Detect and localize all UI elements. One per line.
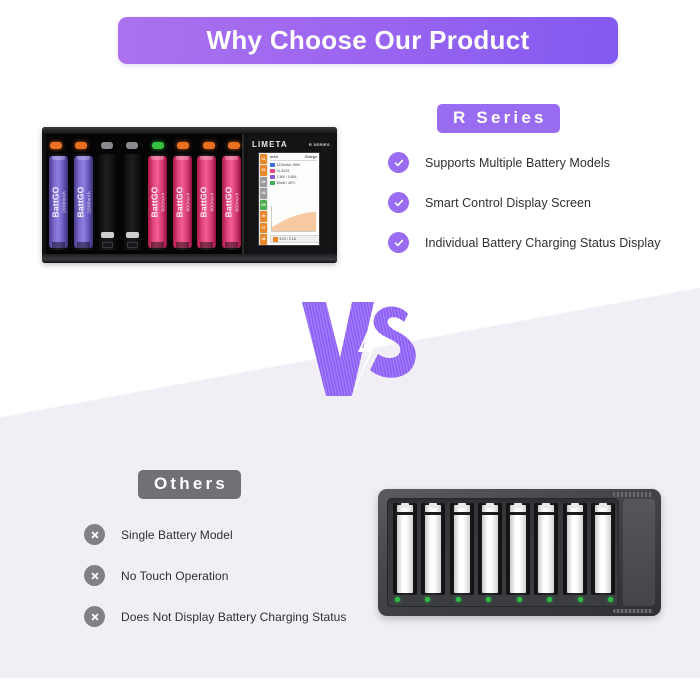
- stat-swatch-icon: [270, 169, 275, 174]
- battery-label: BattGO2000mAh: [75, 187, 91, 218]
- battery-capacity: 800mAh: [210, 187, 215, 218]
- battery-cell: BattGO2000mAh: [49, 156, 68, 248]
- battery-terminal: [151, 156, 164, 160]
- status-led: [547, 597, 552, 602]
- channel-button[interactable]: 07: [260, 223, 267, 234]
- slot-contact: [126, 232, 139, 238]
- cons-item-label: Does Not Display Battery Charging Status: [121, 610, 346, 624]
- battery-terminal: [225, 156, 238, 160]
- screen-stat-row: 1.36V / 0.80A: [270, 175, 317, 180]
- competitor-battery-slot: [393, 503, 417, 595]
- battery-capacity: 800mAh: [185, 187, 190, 218]
- battery-capacity: 2000mAh: [62, 187, 67, 218]
- battery-terminal: [176, 156, 189, 160]
- battery-terminal: [514, 503, 522, 508]
- pros-list-item: Individual Battery Charging Status Displ…: [388, 232, 688, 253]
- battery-cell-plain: [397, 505, 413, 593]
- battery-slot: BattGO2000mAh: [48, 154, 69, 250]
- charger-slot-row: BattGO2000mAh BattGO2000mAh: [48, 154, 242, 250]
- status-led: [486, 597, 491, 602]
- battery-cell: BattGO800mAh: [222, 156, 241, 248]
- cons-list-item: Does Not Display Battery Charging Status: [84, 606, 414, 627]
- pros-item-label: Individual Battery Charging Status Displ…: [425, 236, 661, 250]
- stat-value: 1215mAh / 96%: [277, 163, 300, 167]
- slot-contact: [101, 232, 114, 238]
- charger-side-indicators: [336, 134, 337, 254]
- cross-circle-icon: [84, 606, 105, 627]
- series-mark: R SERIES: [309, 142, 330, 147]
- battery-slot: BattGO800mAh: [196, 154, 217, 250]
- cons-list-item: Single Battery Model: [84, 524, 414, 545]
- battery-terminal: [401, 503, 409, 508]
- lcd-display-screen[interactable]: 01 02 03 04 OK 06 07 08 mAh Charge: [258, 152, 320, 246]
- battery-neck: [454, 512, 470, 515]
- check-circle-icon: [388, 152, 409, 173]
- battery-slot: BattGO800mAh: [221, 154, 242, 250]
- battery-neck: [482, 512, 498, 515]
- status-led: [203, 142, 215, 149]
- status-led: [456, 597, 461, 602]
- screen-col-mah: mAh: [270, 155, 278, 159]
- brand-logo-limeta: LIMETA: [252, 140, 288, 149]
- channel-button[interactable]: 04: [260, 188, 267, 199]
- cons-item-label: No Touch Operation: [121, 569, 228, 583]
- battery-label: BattGO800mAh: [223, 187, 239, 218]
- stat-value: 01:34:23: [277, 169, 290, 173]
- slot-contact-base: [127, 242, 138, 248]
- competitor-bay-area: [387, 498, 619, 607]
- status-led: [101, 142, 113, 149]
- power-swatch-icon: [273, 237, 278, 242]
- battery-slot-empty: [97, 154, 118, 250]
- status-led: [50, 142, 62, 149]
- charging-curve-chart: [271, 206, 316, 232]
- competitor-battery-slot: [421, 503, 445, 595]
- battery-base: [151, 242, 164, 248]
- battery-terminal: [599, 503, 607, 508]
- battery-label: BattGO800mAh: [149, 187, 165, 218]
- pros-item-label: Smart Control Display Screen: [425, 196, 591, 210]
- battery-terminal: [458, 503, 466, 508]
- battery-slot: BattGO2000mAh: [73, 154, 94, 250]
- charger-bottom-edge: [42, 254, 337, 263]
- versus-graphic: [296, 296, 426, 406]
- battery-cell-plain: [454, 505, 470, 593]
- stat-swatch-icon: [270, 163, 275, 168]
- battery-cell: BattGO2000mAh: [74, 156, 93, 248]
- channel-button[interactable]: 06: [260, 211, 267, 222]
- screen-stat-row: 50mΩ / 45°C: [270, 181, 317, 186]
- competitor-battery-slot: [534, 503, 558, 595]
- channel-button[interactable]: 08: [260, 234, 267, 245]
- charger-led-row: [50, 140, 240, 151]
- cons-item-label: Single Battery Model: [121, 528, 233, 542]
- battery-cell: BattGO800mAh: [197, 156, 216, 248]
- battery-terminal: [429, 503, 437, 508]
- power-value: 5.0V / 2.1A: [280, 237, 296, 241]
- competitor-slot-row: [393, 503, 615, 595]
- competitor-charger-image: [378, 489, 661, 616]
- charger-bay-area: BattGO2000mAh BattGO2000mAh: [46, 134, 244, 254]
- battery-terminal: [486, 503, 494, 508]
- r-series-badge: R Series: [437, 104, 560, 133]
- competitor-battery-slot: [478, 503, 502, 595]
- battery-base: [52, 242, 65, 248]
- status-led: [578, 597, 583, 602]
- battery-base: [77, 242, 90, 248]
- competitor-battery-slot: [591, 503, 615, 595]
- channel-button[interactable]: 02: [260, 165, 267, 176]
- screen-stat-row: 01:34:23: [270, 169, 317, 174]
- charger-control-panel: LIMETA R SERIES 01 02 03 04 OK 06 07 08 …: [248, 134, 333, 254]
- screen-stat-row: 1215mAh / 96%: [270, 163, 317, 168]
- battery-cell-plain: [425, 505, 441, 593]
- r-series-charger-image: BattGO2000mAh BattGO2000mAh: [42, 127, 337, 263]
- charger-vent-bottom: [613, 609, 653, 613]
- background-bottom-band: [0, 678, 700, 700]
- battery-cell-plain: [510, 505, 526, 593]
- battery-base: [200, 242, 213, 248]
- channel-button-ok[interactable]: OK: [260, 200, 267, 211]
- battery-terminal: [200, 156, 213, 160]
- stat-swatch-icon: [270, 181, 275, 186]
- screen-col-charge: Charge: [305, 155, 317, 159]
- competitor-battery-slot: [506, 503, 530, 595]
- check-circle-icon: [388, 232, 409, 253]
- pros-feature-list: Supports Multiple Battery Models Smart C…: [388, 152, 688, 272]
- status-led: [177, 142, 189, 149]
- page-title: Why Choose Our Product: [207, 25, 530, 56]
- channel-button[interactable]: 03: [260, 177, 267, 188]
- status-led: [395, 597, 400, 602]
- screen-column-headers: mAh Charge: [270, 155, 317, 161]
- battery-terminal: [52, 156, 65, 160]
- battery-base: [176, 242, 189, 248]
- battery-cell-plain: [567, 505, 583, 593]
- battery-neck: [595, 512, 611, 515]
- stat-swatch-icon: [270, 175, 275, 180]
- screen-content: mAh Charge 1215mAh / 96% 01:34:23 1.36V …: [268, 153, 319, 245]
- battery-cell-plain: [538, 505, 554, 593]
- infographic-page: Why Choose Our Product BattGO: [0, 0, 700, 700]
- battery-cell: BattGO800mAh: [173, 156, 192, 248]
- status-led: [608, 597, 613, 602]
- battery-slot: BattGO800mAh: [147, 154, 168, 250]
- slot-contact-base: [102, 242, 113, 248]
- screen-channel-buttons[interactable]: 01 02 03 04 OK 06 07 08: [259, 153, 268, 245]
- channel-button[interactable]: 01: [260, 154, 267, 165]
- stat-value: 1.36V / 0.80A: [277, 175, 297, 179]
- competitor-battery-slot: [563, 503, 587, 595]
- competitor-battery-slot: [450, 503, 474, 595]
- cons-feature-list: Single Battery Model No Touch Operation …: [84, 524, 414, 647]
- battery-cell: BattGO800mAh: [148, 156, 167, 248]
- battery-terminal: [77, 156, 90, 160]
- battery-capacity: 800mAh: [160, 187, 165, 218]
- status-led: [126, 142, 138, 149]
- battery-slot-empty: [122, 154, 143, 250]
- pros-list-item: Smart Control Display Screen: [388, 192, 688, 213]
- status-led: [228, 142, 240, 149]
- status-led: [152, 142, 164, 149]
- competitor-led-row: [395, 595, 613, 603]
- battery-label: BattGO2000mAh: [51, 187, 67, 218]
- header-banner: Why Choose Our Product: [118, 17, 618, 64]
- battery-terminal: [542, 503, 550, 508]
- battery-neck: [538, 512, 554, 515]
- battery-label: BattGO800mAh: [199, 187, 215, 218]
- stat-value: 50mΩ / 45°C: [277, 181, 296, 185]
- battery-capacity: 2000mAh: [86, 187, 91, 218]
- battery-label: BattGO800mAh: [174, 187, 190, 218]
- pros-list-item: Supports Multiple Battery Models: [388, 152, 688, 173]
- battery-neck: [397, 512, 413, 515]
- check-circle-icon: [388, 192, 409, 213]
- cross-circle-icon: [84, 565, 105, 586]
- others-badge: Others: [138, 470, 241, 499]
- status-led: [75, 142, 87, 149]
- status-led: [517, 597, 522, 602]
- battery-neck: [567, 512, 583, 515]
- battery-terminal: [571, 503, 579, 508]
- charger-right-panel: [623, 499, 655, 606]
- cons-list-item: No Touch Operation: [84, 565, 414, 586]
- screen-footer-bar: 5.0V / 2.1A: [270, 235, 320, 243]
- battery-neck: [425, 512, 441, 515]
- charger-brand-row: LIMETA R SERIES: [252, 139, 330, 150]
- battery-slot: BattGO800mAh: [172, 154, 193, 250]
- battery-neck: [510, 512, 526, 515]
- pros-item-label: Supports Multiple Battery Models: [425, 156, 610, 170]
- charger-top-edge: [42, 127, 337, 133]
- battery-cell-plain: [482, 505, 498, 593]
- battery-base: [225, 242, 238, 248]
- battery-capacity: 800mAh: [234, 187, 239, 218]
- cross-circle-icon: [84, 524, 105, 545]
- battery-cell-plain: [595, 505, 611, 593]
- status-led: [425, 597, 430, 602]
- charger-vent-top: [613, 492, 653, 497]
